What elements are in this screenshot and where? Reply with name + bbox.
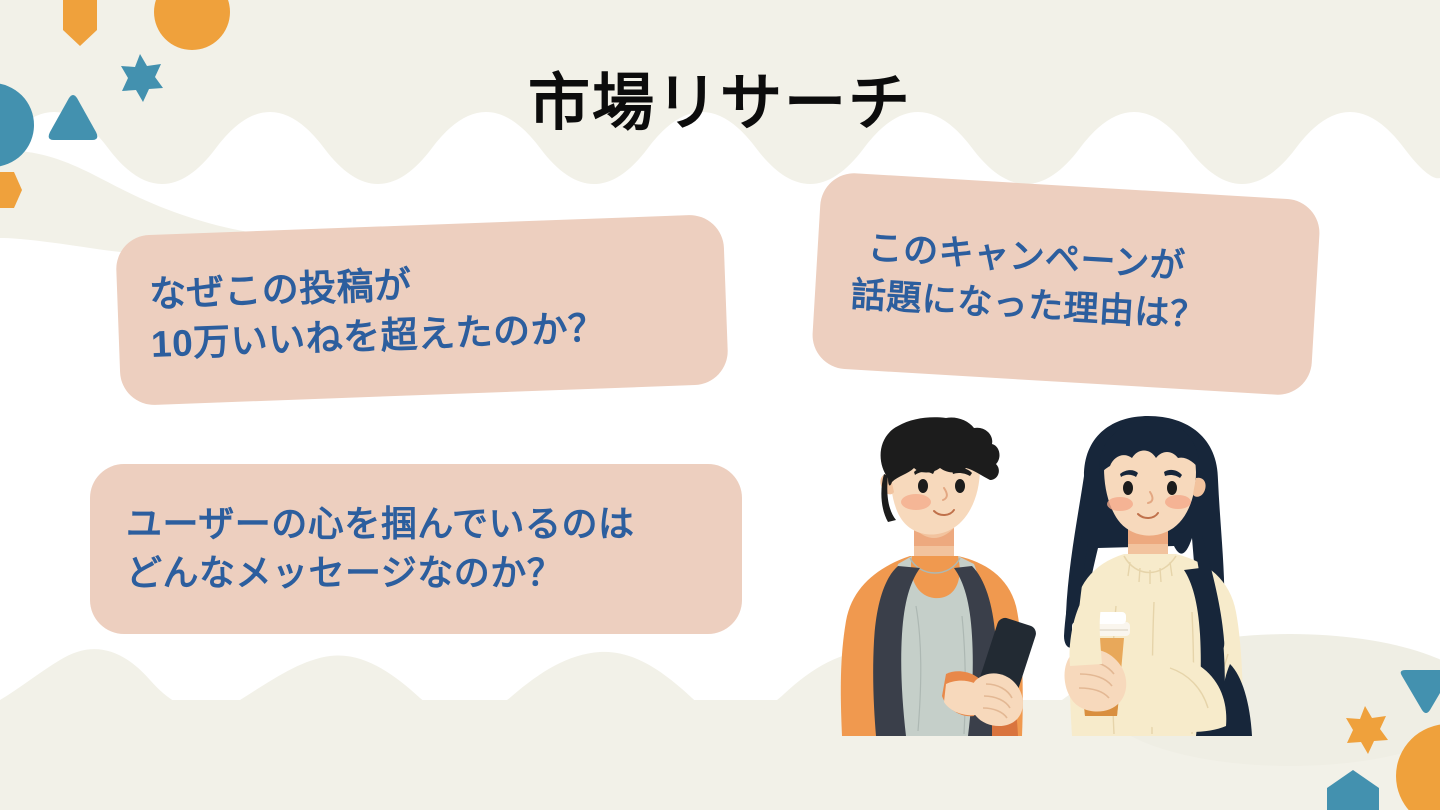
page-title: 市場リサーチ	[0, 52, 1440, 142]
question-card-3-line-1: ユーザーの心を掴んでいるのは	[126, 500, 742, 549]
man-with-phone	[841, 417, 1038, 736]
woman-collar-rib-4	[1160, 568, 1161, 582]
question-card-3[interactable]: ユーザーの心を掴んでいるのは どんなメッセージなのか？	[90, 464, 742, 634]
woman-blush-left	[1107, 497, 1133, 511]
triangle-teal-bottom-right-icon	[1401, 670, 1440, 713]
slide-canvas: 市場リサーチ なぜこの投稿が 10万いいねを超えたのか？ このキャンペーンが 話…	[0, 0, 1440, 810]
pentagon-orange-left-icon	[0, 172, 22, 208]
circle-orange-top-icon	[154, 0, 230, 50]
question-card-1[interactable]: なぜこの投稿が 10万いいねを超えたのか？	[115, 214, 729, 406]
pentagon-teal-bottom-right-icon	[1327, 770, 1379, 810]
woman-eye-left	[1123, 481, 1133, 495]
man-eye-left	[918, 479, 928, 493]
man-blush	[901, 494, 931, 510]
question-card-3-line-2: どんなメッセージなのか？	[126, 549, 742, 598]
man-eye-right	[955, 479, 965, 493]
woman-with-coffee	[1064, 416, 1252, 736]
woman-eye-right	[1167, 481, 1177, 495]
woman-blush-right	[1165, 495, 1191, 509]
question-card-2[interactable]: このキャンペーンが 話題になった理由は？	[811, 171, 1322, 396]
circle-orange-bottom-right-icon	[1396, 724, 1440, 810]
two-students-illustration	[836, 416, 1306, 736]
pentagon-orange-top-icon	[63, 0, 97, 46]
pentagon-orange-top-shape	[64, 0, 96, 36]
star-orange-bottom-right-icon	[1346, 706, 1388, 754]
woman-collar-rib-2	[1139, 568, 1140, 582]
